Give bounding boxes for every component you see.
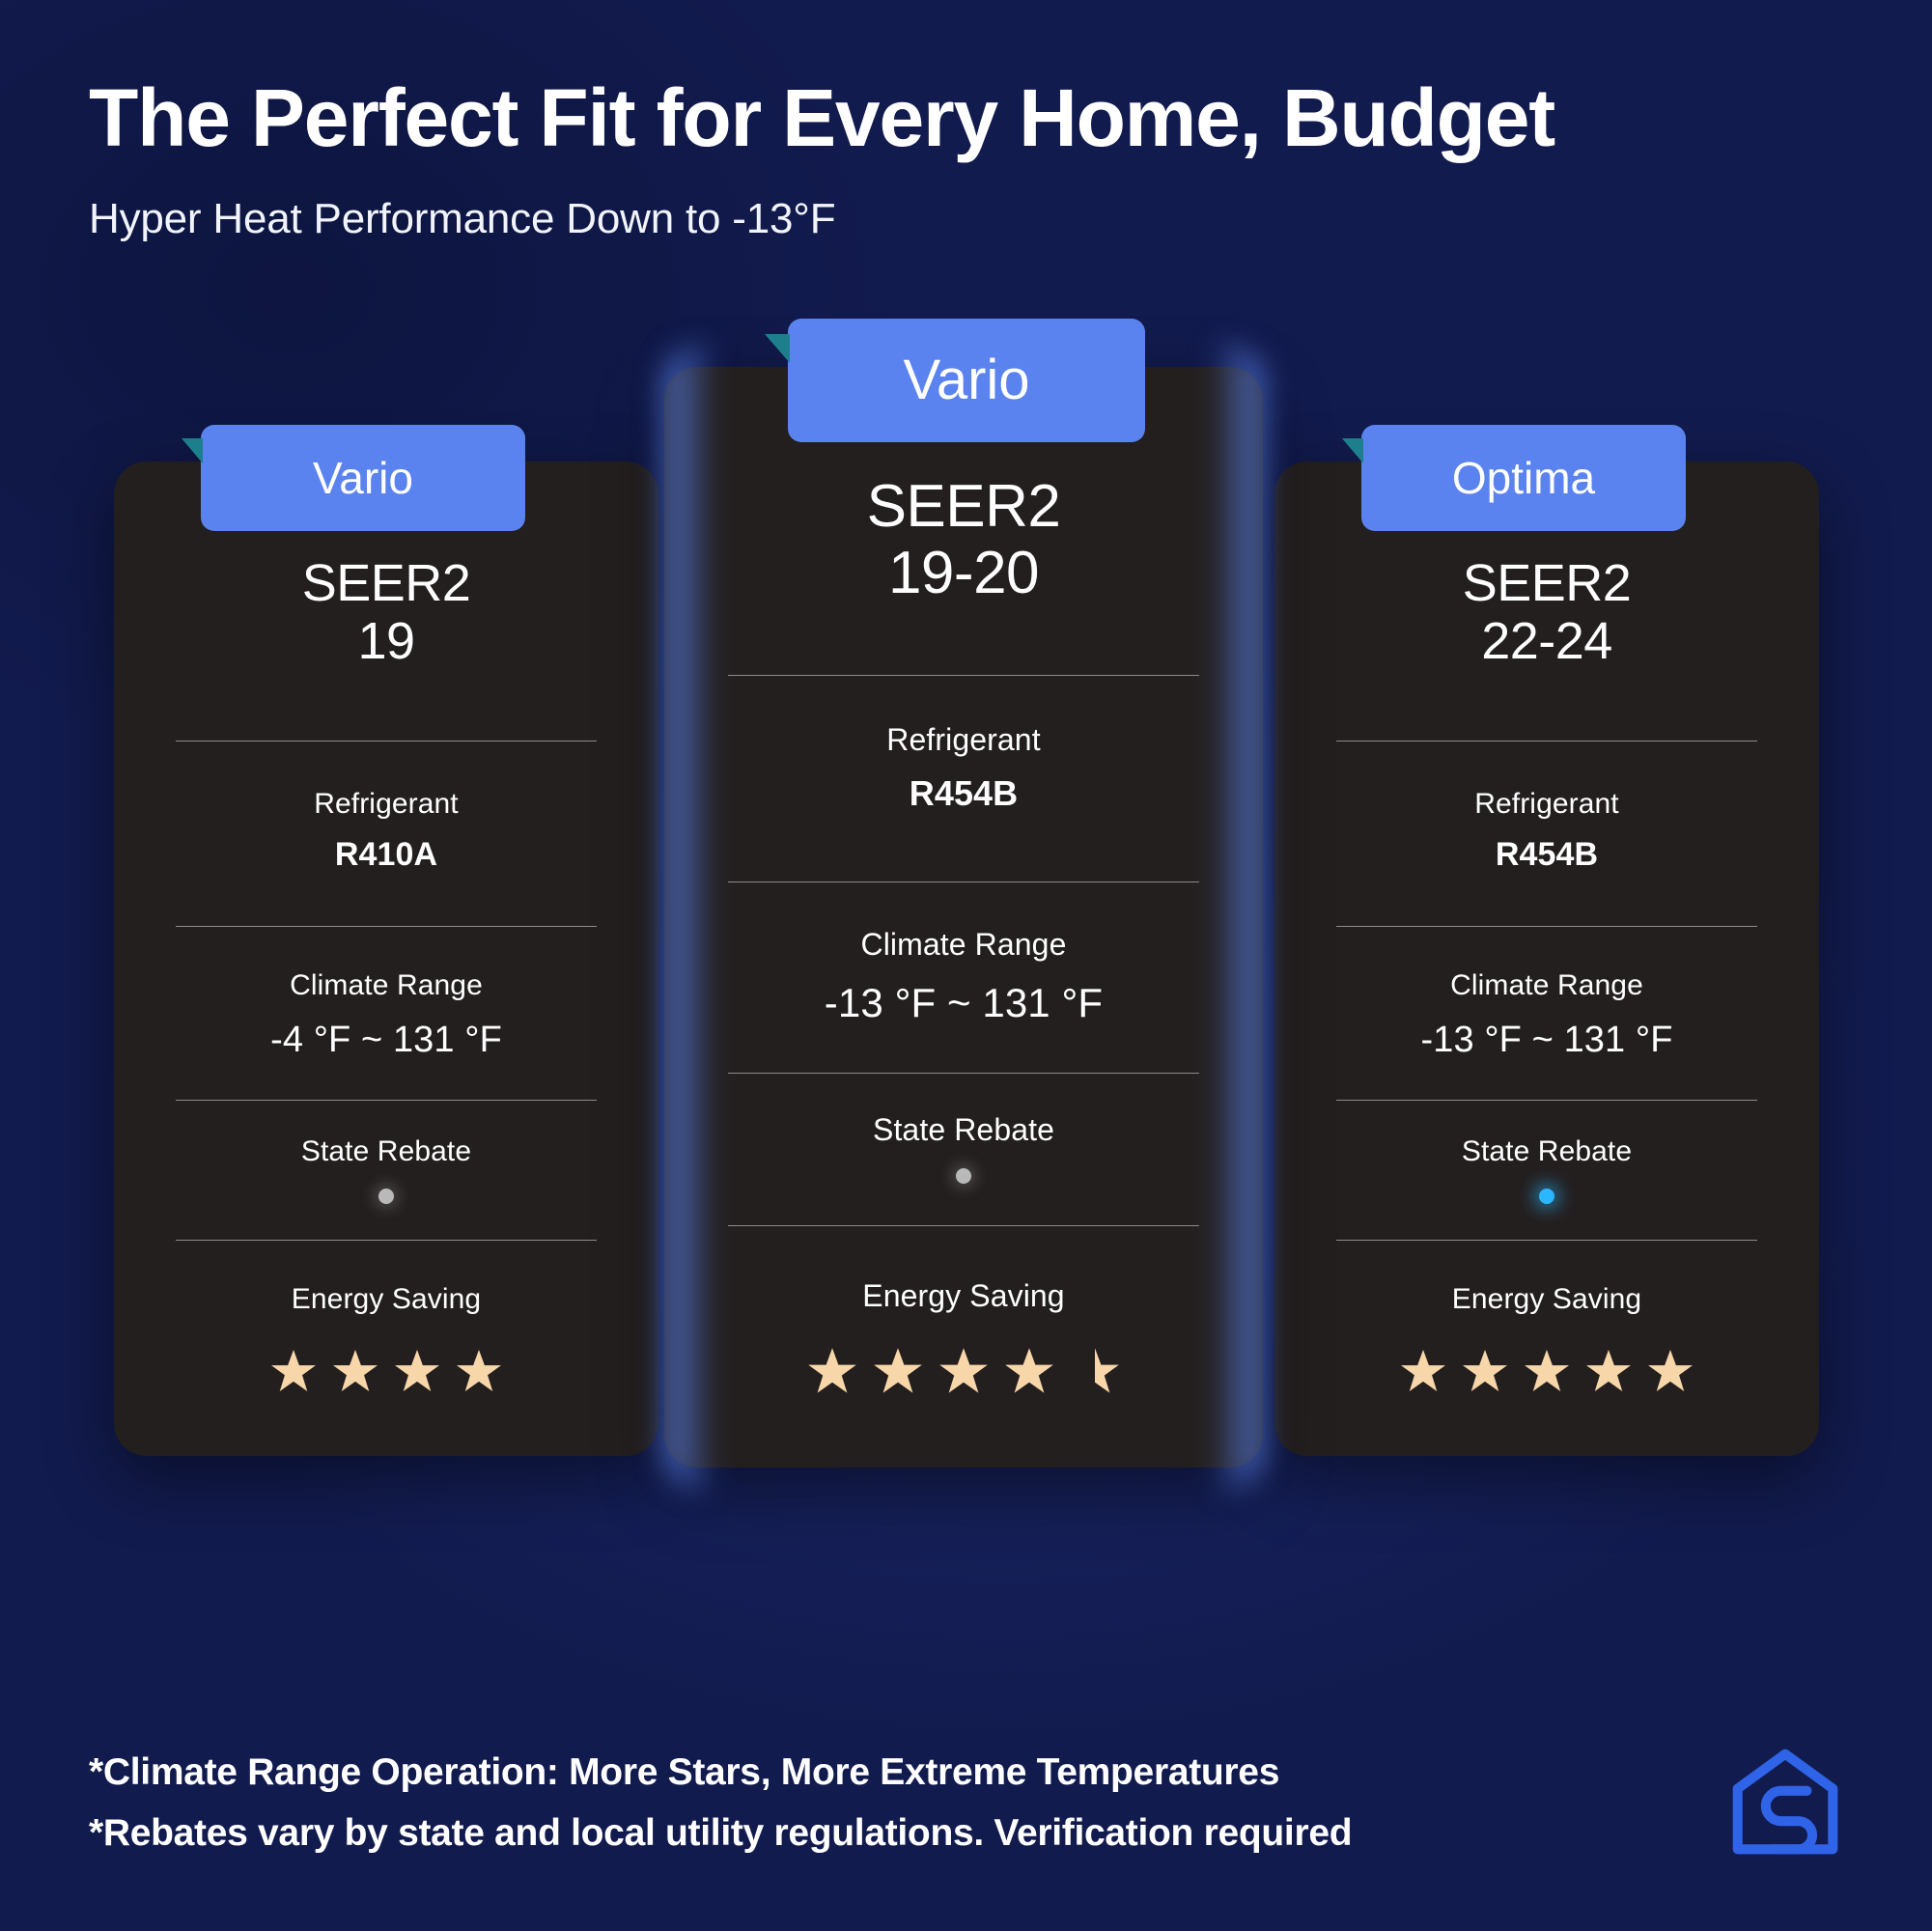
state-rebate-indicator bbox=[1336, 1180, 1757, 1213]
climate-range-value: -13 °F ~ 131 °F bbox=[1336, 1020, 1757, 1061]
climate-range-value: -4 °F ~ 131 °F bbox=[176, 1020, 597, 1061]
refrigerant-label: Refrigerant bbox=[176, 788, 597, 821]
refrigerant-value: R454B bbox=[728, 773, 1199, 814]
ribbon-label: Optima bbox=[1452, 453, 1595, 503]
seer-value: 19-20 bbox=[728, 540, 1199, 606]
product-card-optima[interactable]: Optima SEER2 22-24 Refrigerant R454B Cli… bbox=[1274, 462, 1819, 1456]
climate-range-label: Climate Range bbox=[728, 927, 1199, 963]
ribbon-fold-icon bbox=[182, 438, 203, 463]
card-ribbon-right[interactable]: Optima bbox=[1361, 425, 1686, 531]
status-dot-icon bbox=[1539, 1189, 1554, 1204]
climate-range-label: Climate Range bbox=[1336, 969, 1757, 1002]
comparison-cards: Vario SEER2 19 Refrigerant R410A Climate… bbox=[0, 348, 1932, 1699]
refrigerant-label: Refrigerant bbox=[728, 722, 1199, 758]
status-dot-icon bbox=[378, 1189, 394, 1204]
status-dot-icon bbox=[956, 1168, 971, 1184]
ribbon-fold-icon bbox=[1342, 438, 1363, 463]
energy-saving-rating bbox=[176, 1347, 597, 1400]
energy-saving-label: Energy Saving bbox=[1336, 1283, 1757, 1316]
header: The Perfect Fit for Every Home, Budget H… bbox=[89, 75, 1554, 243]
seer-value: 22-24 bbox=[1336, 612, 1757, 670]
star-icon bbox=[938, 1345, 990, 1402]
infographic-page: The Perfect Fit for Every Home, Budget H… bbox=[0, 0, 1932, 1931]
energy-saving-rating bbox=[728, 1345, 1199, 1402]
product-card-vario-featured[interactable]: Vario SEER2 19-20 Refrigerant R454B Clim… bbox=[664, 367, 1263, 1468]
star-icon bbox=[1584, 1347, 1633, 1400]
product-card-vario-basic[interactable]: Vario SEER2 19 Refrigerant R410A Climate… bbox=[114, 462, 658, 1456]
state-rebate-label: State Rebate bbox=[728, 1112, 1199, 1148]
state-rebate-indicator bbox=[176, 1180, 597, 1213]
page-subtitle: Hyper Heat Performance Down to -13°F bbox=[89, 195, 1554, 243]
star-icon bbox=[1523, 1347, 1571, 1400]
footnote-climate-range: *Climate Range Operation: More Stars, Mo… bbox=[89, 1743, 1352, 1803]
star-icon bbox=[806, 1345, 858, 1402]
seer-value: 19 bbox=[176, 612, 597, 670]
star-icon bbox=[1003, 1345, 1055, 1402]
star-icon bbox=[1646, 1347, 1694, 1400]
ribbon-fold-icon bbox=[765, 334, 790, 363]
seer-label: SEER2 bbox=[1336, 554, 1757, 612]
star-icon bbox=[393, 1347, 441, 1400]
climate-range-label: Climate Range bbox=[176, 969, 597, 1002]
state-rebate-label: State Rebate bbox=[1336, 1135, 1757, 1168]
star-icon bbox=[1461, 1347, 1509, 1400]
energy-saving-label: Energy Saving bbox=[728, 1278, 1199, 1314]
star-icon bbox=[872, 1345, 924, 1402]
card-body-left: SEER2 19 Refrigerant R410A Climate Range… bbox=[114, 554, 658, 1400]
refrigerant-label: Refrigerant bbox=[1336, 788, 1757, 821]
refrigerant-value: R454B bbox=[1336, 836, 1757, 874]
house-logo-icon bbox=[1731, 1748, 1839, 1856]
card-body-right: SEER2 22-24 Refrigerant R454B Climate Ra… bbox=[1274, 554, 1819, 1400]
card-ribbon-left[interactable]: Vario bbox=[201, 425, 525, 531]
footer-notes: *Climate Range Operation: More Stars, Mo… bbox=[89, 1743, 1352, 1863]
refrigerant-value: R410A bbox=[176, 836, 597, 874]
card-ribbon-center[interactable]: Vario bbox=[788, 319, 1145, 442]
footnote-rebates: *Rebates vary by state and local utility… bbox=[89, 1804, 1352, 1863]
star-icon bbox=[455, 1347, 503, 1400]
seer-label: SEER2 bbox=[728, 473, 1199, 540]
star-icon bbox=[331, 1347, 379, 1400]
climate-range-value: -13 °F ~ 131 °F bbox=[728, 980, 1199, 1026]
state-rebate-indicator bbox=[728, 1160, 1199, 1192]
ribbon-label: Vario bbox=[313, 453, 413, 503]
energy-saving-label: Energy Saving bbox=[176, 1283, 597, 1316]
card-body-center: SEER2 19-20 Refrigerant R454B Climate Ra… bbox=[664, 473, 1263, 1402]
star-icon bbox=[1399, 1347, 1447, 1400]
ribbon-label: Vario bbox=[903, 349, 1029, 411]
page-title: The Perfect Fit for Every Home, Budget bbox=[89, 75, 1554, 160]
state-rebate-label: State Rebate bbox=[176, 1135, 597, 1168]
seer-label: SEER2 bbox=[176, 554, 597, 612]
energy-saving-rating bbox=[1336, 1347, 1757, 1400]
half-star-icon bbox=[1069, 1345, 1121, 1402]
star-icon bbox=[269, 1347, 318, 1400]
